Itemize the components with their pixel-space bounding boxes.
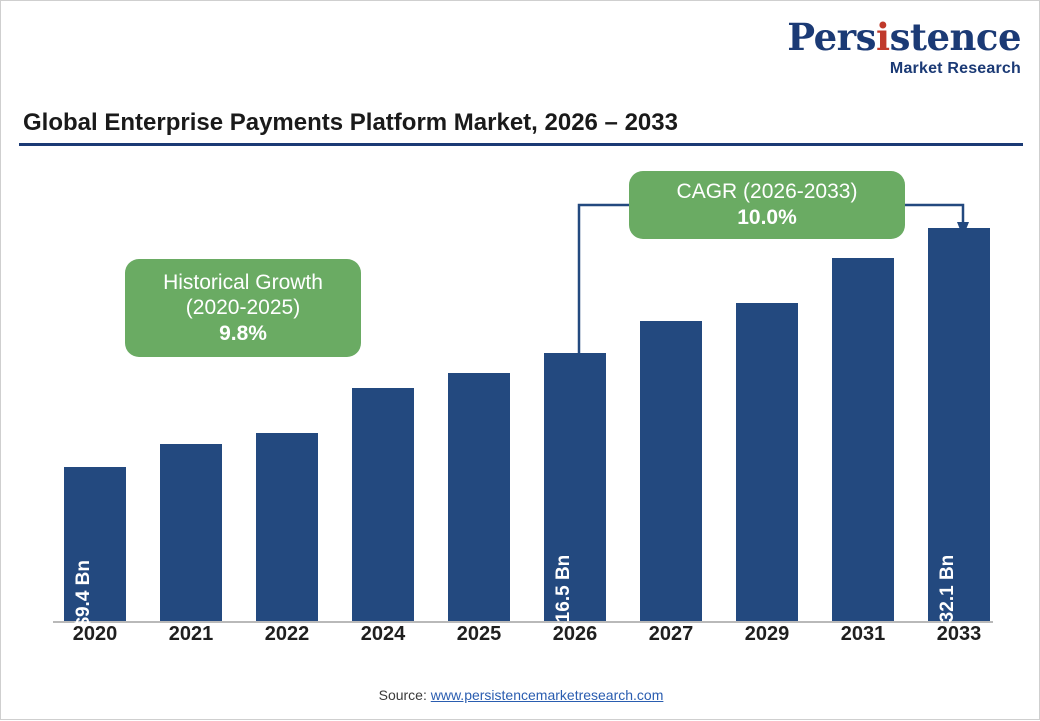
- brand-logo-name: Persistence: [787, 19, 1021, 56]
- table-row[interactable]: [352, 388, 414, 621]
- bar-slot: [335, 156, 431, 621]
- table-row[interactable]: [736, 303, 798, 621]
- bar-slot: US$16.5 Bn: [527, 156, 623, 621]
- x-tick: 2021: [143, 623, 239, 646]
- table-row[interactable]: US$32.1 Bn: [928, 228, 990, 621]
- historical-growth-line2: (2020-2025): [186, 295, 300, 321]
- table-row[interactable]: US$9.4 Bn: [64, 467, 126, 621]
- x-tick: 2031: [815, 623, 911, 646]
- chart-canvas: Persistence Market Research Global Enter…: [0, 0, 1040, 720]
- x-tick: 2033: [911, 623, 1007, 646]
- source-link[interactable]: www.persistencemarketresearch.com: [431, 687, 664, 703]
- brand-logo: Persistence Market Research: [787, 19, 1021, 77]
- cagr-callout: CAGR (2026-2033) 10.0%: [629, 171, 905, 239]
- page-title: Global Enterprise Payments Platform Mark…: [23, 109, 678, 137]
- bar-slot: US$9.4 Bn: [47, 156, 143, 621]
- x-tick: 2022: [239, 623, 335, 646]
- bar-slot: US$32.1 Bn: [911, 156, 1007, 621]
- historical-growth-value: 9.8%: [219, 321, 267, 347]
- x-tick: 2024: [335, 623, 431, 646]
- x-axis-labels: 2020 2021 2022 2024 2025 2026 2027 2029 …: [41, 623, 1001, 659]
- table-row[interactable]: [832, 258, 894, 621]
- table-row[interactable]: US$16.5 Bn: [544, 353, 606, 621]
- bar-slot: [431, 156, 527, 621]
- x-tick: 2027: [623, 623, 719, 646]
- x-tick: 2020: [47, 623, 143, 646]
- table-row[interactable]: [256, 433, 318, 621]
- cagr-line1: CAGR (2026-2033): [677, 179, 858, 205]
- brand-logo-tagline: Market Research: [787, 61, 1021, 77]
- bar-slot: [239, 156, 335, 621]
- source-prefix: Source:: [379, 687, 431, 703]
- source-note: Source: www.persistencemarketresearch.co…: [1, 687, 1040, 703]
- historical-growth-line1: Historical Growth: [163, 270, 323, 296]
- x-tick: 2026: [527, 623, 623, 646]
- x-tick: 2029: [719, 623, 815, 646]
- table-row[interactable]: [160, 444, 222, 621]
- table-row[interactable]: [448, 373, 510, 621]
- title-divider: [19, 143, 1023, 146]
- table-row[interactable]: [640, 321, 702, 621]
- x-tick: 2025: [431, 623, 527, 646]
- cagr-value: 10.0%: [737, 205, 797, 231]
- bar-slot: [143, 156, 239, 621]
- historical-growth-callout: Historical Growth (2020-2025) 9.8%: [125, 259, 361, 357]
